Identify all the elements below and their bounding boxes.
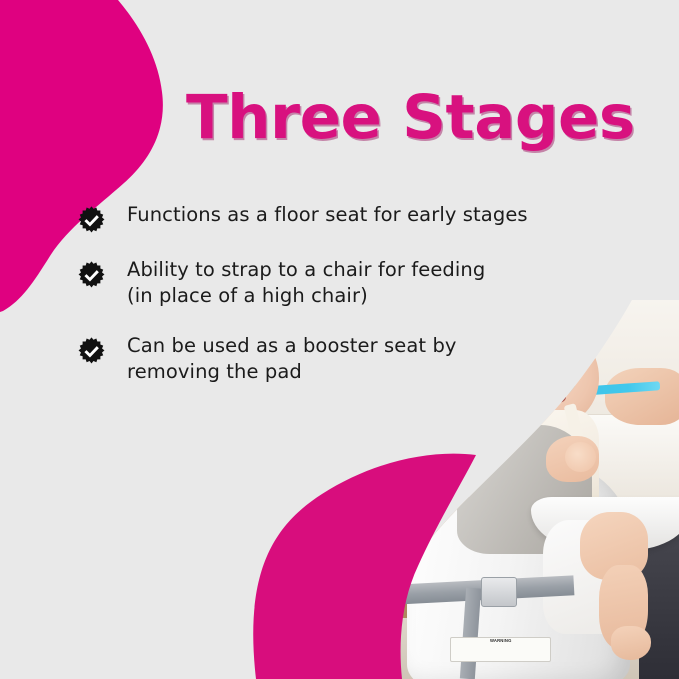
check-badge-icon xyxy=(78,261,105,288)
list-item: Can be used as a booster seat by removin… xyxy=(78,333,578,385)
page-title: Three Stages xyxy=(186,86,656,150)
list-item-line-2: removing the pad xyxy=(127,359,457,385)
strap-buckle xyxy=(481,577,517,607)
feature-list: Functions as a floor seat for early stag… xyxy=(78,202,578,409)
list-item-line-1: Ability to strap to a chair for feeding xyxy=(127,258,485,281)
warning-label-text: WARNING xyxy=(490,638,512,644)
baby-hands xyxy=(565,442,596,472)
infographic-canvas: WARNING Three Stages Functions as a floo… xyxy=(0,0,679,679)
list-item: Ability to strap to a chair for feeding … xyxy=(78,257,578,309)
adult-hand xyxy=(605,368,679,425)
list-item-text: Ability to strap to a chair for feeding … xyxy=(127,257,485,309)
list-item-line-1: Can be used as a booster seat by xyxy=(127,334,457,357)
warning-label: WARNING xyxy=(450,637,551,662)
list-item-line-1: Functions as a floor seat for early stag… xyxy=(127,203,528,226)
list-item-text: Can be used as a booster seat by removin… xyxy=(127,333,457,385)
baby-foot xyxy=(611,626,651,660)
baby-outfit-strap-left xyxy=(511,403,532,443)
list-item-text: Functions as a floor seat for early stag… xyxy=(127,202,528,228)
list-item: Functions as a floor seat for early stag… xyxy=(78,202,578,233)
check-badge-icon xyxy=(78,337,105,364)
check-badge-icon xyxy=(78,206,105,233)
list-item-line-2: (in place of a high chair) xyxy=(127,283,485,309)
